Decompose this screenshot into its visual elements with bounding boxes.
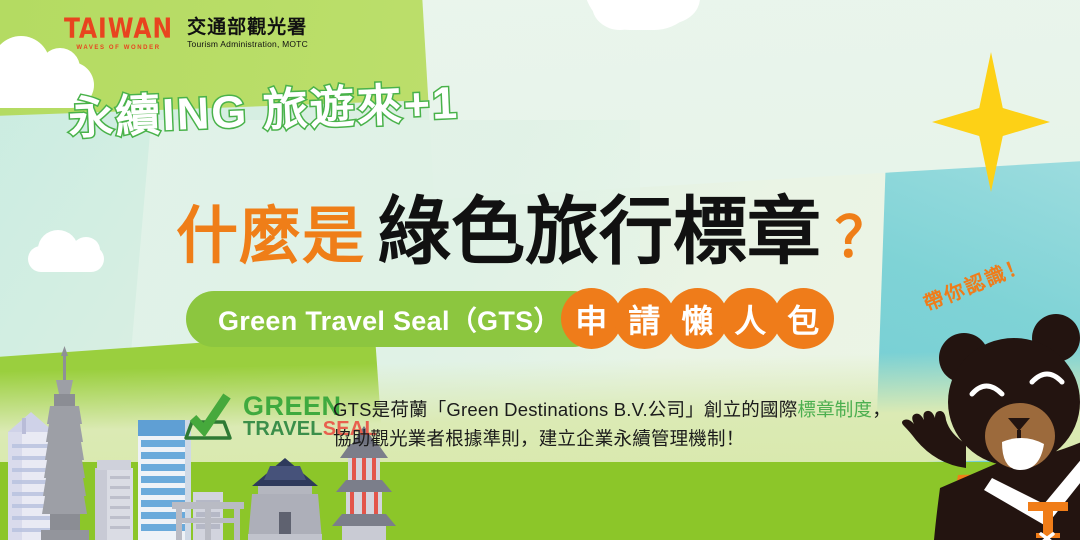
description-highlight: 標章制度 — [797, 399, 872, 420]
agency-name-en: Tourism Administration, MOTC — [187, 40, 308, 49]
description-line1-a: GTS是荷蘭「Green Destinations B.V.公司」創立的國際 — [333, 399, 797, 420]
circle-char: 申 — [561, 288, 622, 349]
agency-name-zh: 交通部觀光署 — [187, 18, 308, 38]
description-line2: 協助觀光業者根據準則，建立企業永續管理機制！ — [333, 428, 744, 449]
green-pill: Green Travel Seal（GTS） — [186, 291, 601, 347]
title-question-mark: ？ — [835, 193, 891, 274]
page-title: 什麼是 綠色旅行標章 ？ — [176, 172, 891, 279]
description-text: GTS是荷蘭「Green Destinations B.V.公司」創立的國際標章… — [333, 396, 913, 453]
circle-char: 人 — [720, 288, 781, 349]
seal-travel-text: TRAVEL — [243, 418, 323, 440]
circle-char: 請 — [614, 288, 675, 349]
subtitle-pill-row: Green Travel Seal（GTS） 申 請 懶 人 包 — [186, 288, 834, 349]
title-prefix: 什麼是 — [176, 185, 365, 275]
orange-circle-group: 申 請 懶 人 包 — [569, 288, 834, 349]
description-line1-b: ， — [872, 399, 891, 420]
promo-banner: TAIWAN WAVES OF WONDER 交通部觀光署 Tourism Ad… — [0, 0, 1080, 540]
tourism-administration-logo: TAIWAN WAVES OF WONDER 交通部觀光署 Tourism Ad… — [64, 16, 308, 51]
taiwan-wordmark-text: TAIWAN — [64, 15, 173, 42]
title-keyword: 綠色旅行標章 — [377, 172, 821, 279]
circle-char: 包 — [773, 288, 834, 349]
taiwan-wordmark: TAIWAN WAVES OF WONDER — [64, 16, 173, 51]
taiwan-tagline: WAVES OF WONDER — [76, 45, 160, 51]
cloud-icon — [28, 246, 104, 272]
pill-english-label: Green Travel Seal（GTS） — [218, 299, 561, 338]
circle-char: 懶 — [667, 288, 728, 349]
agency-name: 交通部觀光署 Tourism Administration, MOTC — [187, 18, 308, 49]
green-check-seal-icon — [180, 392, 234, 442]
